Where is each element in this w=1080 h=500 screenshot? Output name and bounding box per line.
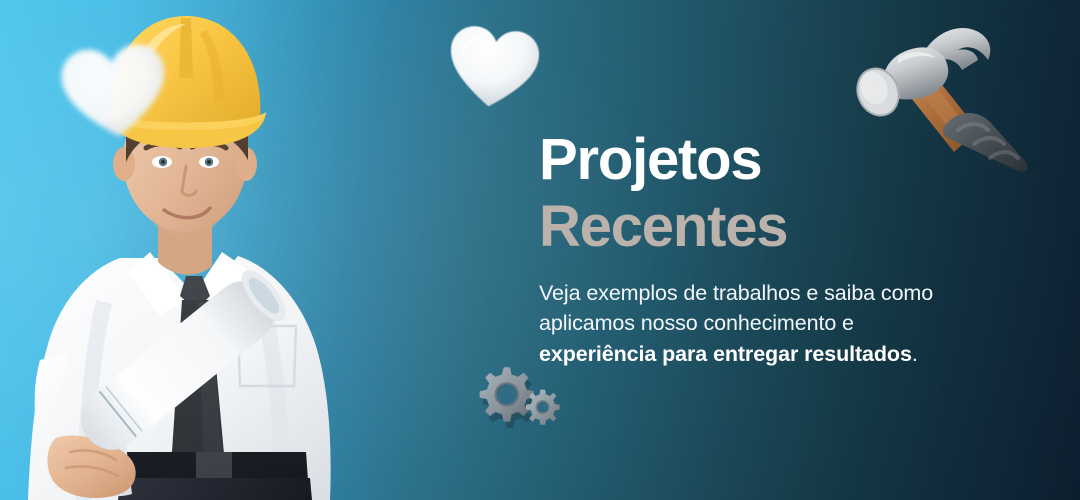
subtitle-line-1: Veja exemplos de trabalhos e saiba como	[539, 278, 1029, 309]
hero-banner: Projetos Recentes Veja exemplos de traba…	[0, 0, 1080, 500]
hero-subtitle: Veja exemplos de trabalhos e saiba como …	[539, 278, 1029, 370]
gears-icon	[470, 364, 566, 436]
headline-line-2: Recentes	[539, 193, 1029, 260]
hero-copy: Projetos Recentes Veja exemplos de traba…	[539, 126, 1029, 369]
subtitle-line-3-tail: .	[912, 342, 918, 366]
page-title: Projetos Recentes	[539, 126, 1029, 261]
headline-line-1: Projetos	[539, 126, 1029, 193]
subtitle-line-3-bold: experiência para entregar resultados	[539, 342, 912, 366]
heart-icon	[50, 32, 179, 156]
trousers	[118, 478, 312, 500]
subtitle-line-2: aplicamos nosso conhecimento e	[539, 308, 1029, 339]
heart-icon	[438, 16, 549, 121]
subtitle-line-3: experiência para entregar resultados.	[539, 339, 1029, 370]
